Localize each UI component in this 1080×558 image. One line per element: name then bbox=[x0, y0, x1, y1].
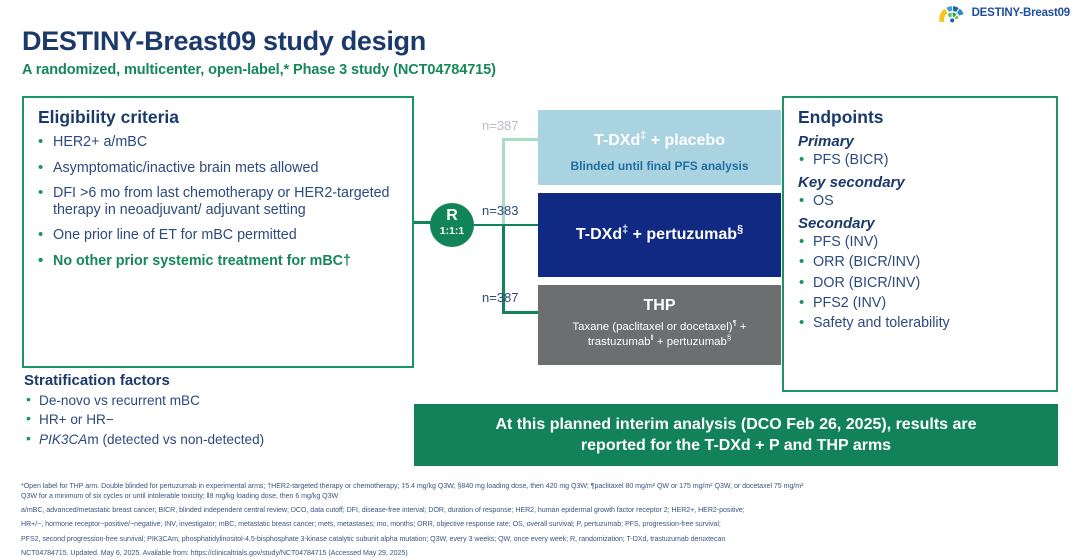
study-flow-diagram: R 1:1:1 n=387 n=383 n=387 T-DXd‡ + place… bbox=[414, 96, 784, 386]
arm-regimen-detail: Taxane (paclitaxel or docetaxel)¶ + tras… bbox=[538, 320, 781, 349]
key-secondary-endpoints-list: OS bbox=[784, 193, 1056, 210]
connector-stub bbox=[474, 224, 504, 227]
list-item: HER2+ a/mBC bbox=[38, 134, 402, 151]
secondary-endpoints-label: Secondary bbox=[798, 215, 1056, 232]
primary-endpoints-list: PFS (BICR) bbox=[784, 152, 1056, 169]
eligibility-list: HER2+ a/mBC Asymptomatic/inactive brain … bbox=[24, 134, 412, 269]
list-item: No other prior systemic treatment for mB… bbox=[38, 253, 402, 270]
list-item: OS bbox=[798, 193, 1056, 210]
list-item: DOR (BICR/INV) bbox=[798, 275, 1056, 292]
list-item: PFS (BICR) bbox=[798, 152, 1056, 169]
list-item: Safety and tolerability bbox=[798, 315, 1056, 332]
regimen-taxane: Taxane (paclitaxel or docetaxel) bbox=[572, 321, 732, 333]
abbreviations-line-1: a/mBC, advanced/metastatic breast cancer… bbox=[21, 505, 1069, 515]
regimen-plus-1: + bbox=[737, 321, 747, 333]
endpoints-panel: Endpoints Primary PFS (BICR) Key seconda… bbox=[782, 96, 1058, 392]
connector-horizontal-arm2 bbox=[502, 224, 538, 227]
endpoints-heading: Endpoints bbox=[798, 107, 1056, 128]
treatment-arm-tdxd-pertuzumab: T-DXd‡ + pertuzumab§ bbox=[538, 193, 781, 277]
footnote-marker: § bbox=[737, 224, 743, 236]
logo-text: DESTINY-Breast09 bbox=[972, 7, 1070, 19]
arm-title: THP bbox=[538, 297, 781, 315]
arm-title: T-DXd‡ + placebo bbox=[538, 132, 781, 150]
interim-analysis-callout: At this planned interim analysis (DCO Fe… bbox=[414, 404, 1058, 466]
list-item: Asymptomatic/inactive brain mets allowed bbox=[38, 160, 402, 177]
primary-endpoints-label: Primary bbox=[798, 133, 1056, 150]
list-item: PFS (INV) bbox=[798, 234, 1056, 251]
pik3ca-gene-name: PIK3CA bbox=[39, 432, 87, 447]
key-secondary-endpoints-label: Key secondary bbox=[798, 174, 1056, 191]
randomization-label: R bbox=[430, 208, 474, 224]
treatment-arm-tdxd-placebo: T-DXd‡ + placebo Blinded until final PFS… bbox=[538, 110, 781, 185]
randomization-node: R 1:1:1 bbox=[430, 203, 474, 247]
abbreviations-line-2: HR+/−, hormone receptor−positive/−negati… bbox=[21, 519, 1069, 529]
footnotes: *Open label for THP arm. Double blinded … bbox=[21, 481, 1069, 558]
randomization-ratio: 1:1:1 bbox=[430, 224, 474, 240]
connector-horizontal-arm3 bbox=[502, 311, 538, 314]
list-item: ORR (BICR/INV) bbox=[798, 254, 1056, 271]
callout-line-2: reported for the T-DXd + P and THP arms bbox=[581, 437, 891, 454]
list-item-text: m (detected vs non-detected) bbox=[87, 432, 264, 447]
list-item: One prior line of ET for mBC permitted bbox=[38, 227, 402, 244]
list-item: PIK3CAm (detected vs non-detected) bbox=[24, 431, 424, 448]
eligibility-heading: Eligibility criteria bbox=[38, 107, 412, 128]
list-item: De-novo vs recurrent mBC bbox=[24, 392, 424, 409]
treatment-arm-thp: THP Taxane (paclitaxel or docetaxel)¶ + … bbox=[538, 285, 781, 365]
list-item: HR+ or HR− bbox=[24, 411, 424, 428]
secondary-endpoints-list: PFS (INV) ORR (BICR/INV) DOR (BICR/INV) … bbox=[784, 234, 1056, 332]
callout-line-1: At this planned interim analysis (DCO Fe… bbox=[495, 416, 976, 433]
stratification-heading: Stratification factors bbox=[24, 372, 424, 389]
abbreviations-line-3: PFS2, second progression-free survival; … bbox=[21, 534, 1069, 544]
page-title: DESTINY-Breast09 study design bbox=[22, 26, 426, 57]
list-item: DFI >6 mo from last chemotherapy or HER2… bbox=[38, 185, 402, 218]
callout-text: At this planned interim analysis (DCO Fe… bbox=[495, 414, 976, 456]
arm-drug-name: T-DXd bbox=[594, 132, 640, 149]
connector-horizontal-arm1 bbox=[502, 138, 538, 141]
arm-title: T-DXd‡ + pertuzumab§ bbox=[538, 226, 781, 244]
arm-drug-name: T-DXd bbox=[576, 226, 622, 243]
footnote-marker: § bbox=[727, 333, 731, 342]
n-label-arm1: n=387 bbox=[482, 118, 519, 133]
arm-title-rest: + pertuzumab bbox=[628, 226, 737, 243]
list-item: PFS2 (INV) bbox=[798, 295, 1056, 312]
stratification-list: De-novo vs recurrent mBC HR+ or HR− PIK3… bbox=[24, 392, 424, 448]
n-label-arm2: n=383 bbox=[482, 203, 519, 218]
regimen-pertuzumab: + pertuzumab bbox=[654, 336, 727, 348]
regimen-trastuzumab: trastuzumab bbox=[588, 336, 651, 348]
n-label-arm3: n=387 bbox=[482, 290, 519, 305]
footnote-symbols-line-1: *Open label for THP arm. Double blinded … bbox=[21, 481, 1069, 491]
footnote-symbols-line-2: Q3W for a minimum of six cycles or until… bbox=[21, 491, 1069, 501]
destiny-breast09-logo: DESTINY-Breast09 bbox=[937, 2, 1070, 24]
arm-title-rest: + placebo bbox=[646, 132, 725, 149]
eligibility-criteria-panel: Eligibility criteria HER2+ a/mBC Asympto… bbox=[22, 96, 414, 368]
destiny-fan-logo-icon bbox=[937, 2, 967, 24]
source-citation: NCT04784715. Updated. May 6, 2025. Avail… bbox=[21, 548, 1069, 558]
stratification-factors: Stratification factors De-novo vs recurr… bbox=[24, 372, 424, 450]
arm-blinding-note: Blinded until final PFS analysis bbox=[538, 159, 781, 173]
page-subtitle: A randomized, multicenter, open-label,* … bbox=[22, 62, 496, 78]
